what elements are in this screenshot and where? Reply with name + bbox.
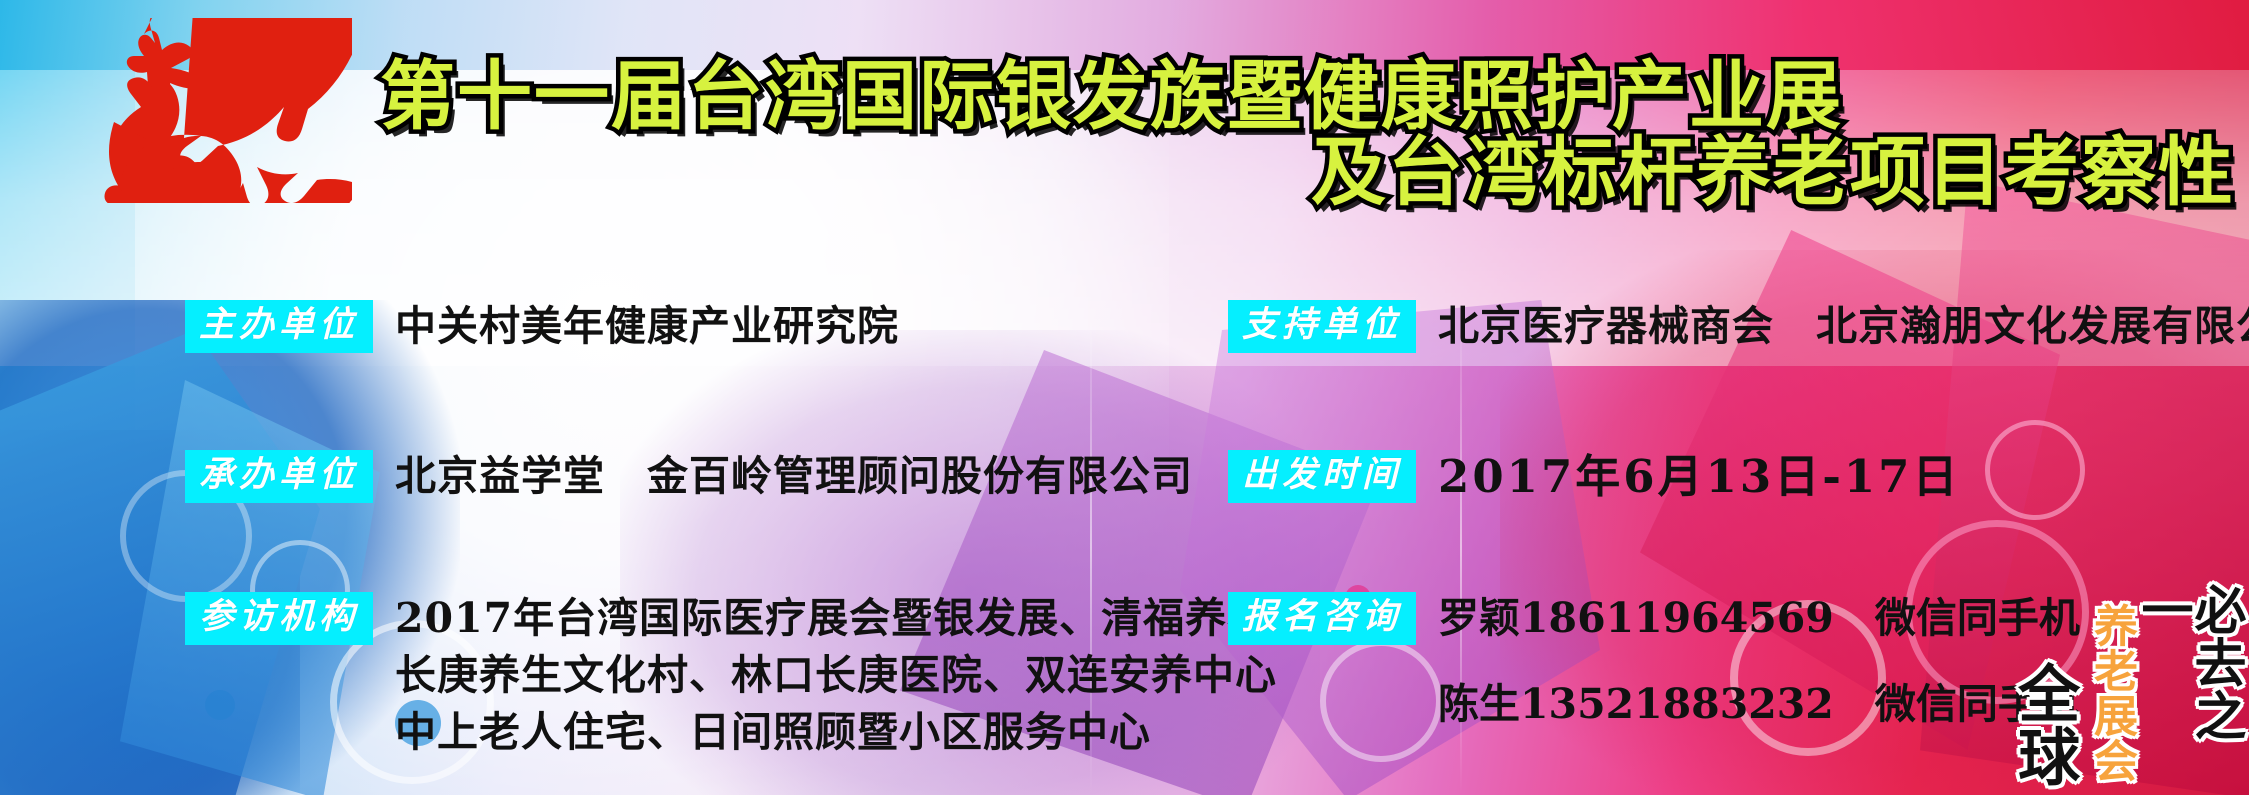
info-row-organizer: 主办单位 中关村美年健康产业研究院	[185, 300, 899, 353]
value-supporter: 北京医疗器械商会 北京瀚朋文化发展有限公司	[1438, 300, 2249, 353]
info-grid: 主办单位 中关村美年健康产业研究院 承办单位 北京益学堂 金百岭管理顾问股份有限…	[0, 282, 2249, 752]
label-badge-departure-date: 出发时间	[1228, 450, 1416, 503]
stamp-biqu-zhiyi: 必去之一	[2135, 583, 2241, 791]
corner-stamp: 全球 养老展会 必去之一	[2018, 583, 2241, 793]
visit-line-3: 中上老人住宅、日间照顾暨小区服务中心	[395, 706, 1311, 759]
visit-line-2: 长庚养生文化村、林口长庚医院、双连安养中心	[395, 649, 1311, 702]
value-visit-institutions: 2017年台湾国际医疗展会暨银发展、清福养老院 长庚养生文化村、林口长庚医院、双…	[395, 592, 1311, 759]
info-row-visit-institutions: 参访机构 2017年台湾国际医疗展会暨银发展、清福养老院 长庚养生文化村、林口长…	[185, 592, 1311, 759]
value-registration-contact: 罗颖18611964569 微信同手机 陈生13521883232 微信同手机	[1438, 592, 2080, 730]
label-badge-visit-institutions: 参访机构	[185, 592, 373, 645]
label-badge-coorganizer: 承办单位	[185, 450, 373, 503]
contact-line-2: 陈生13521883232 微信同手机	[1438, 678, 2080, 730]
info-row-registration-contact: 报名咨询 罗颖18611964569 微信同手机 陈生13521883232 微…	[1228, 592, 2080, 730]
phoenix-rooster-logo	[52, 18, 352, 203]
info-row-coorganizer: 承办单位 北京益学堂 金百岭管理顾问股份有限公司	[185, 450, 1193, 503]
visit-line-1: 2017年台湾国际医疗展会暨银发展、清福养老院	[395, 592, 1311, 645]
info-row-supporter: 支持单位 北京医疗器械商会 北京瀚朋文化发展有限公司	[1228, 300, 2249, 353]
value-departure-date: 2017年6月13日-17日	[1438, 450, 1960, 503]
value-coorganizer: 北京益学堂 金百岭管理顾问股份有限公司	[395, 450, 1193, 503]
stamp-quanqiu: 全球	[2018, 663, 2084, 789]
contact-line-1: 罗颖18611964569 微信同手机	[1438, 592, 2080, 644]
event-banner: 第十一届台湾国际银发族暨健康照护产业展 及台湾标杆养老项目考察性 主办单位 中关…	[0, 0, 2249, 795]
label-badge-organizer: 主办单位	[185, 300, 373, 353]
stamp-yanglao-zhanhui: 养老展会	[2088, 603, 2133, 783]
value-organizer: 中关村美年健康产业研究院	[395, 300, 899, 353]
label-badge-supporter: 支持单位	[1228, 300, 1416, 353]
label-badge-registration-contact: 报名咨询	[1228, 592, 1416, 645]
info-row-departure-date: 出发时间 2017年6月13日-17日	[1228, 450, 1961, 503]
